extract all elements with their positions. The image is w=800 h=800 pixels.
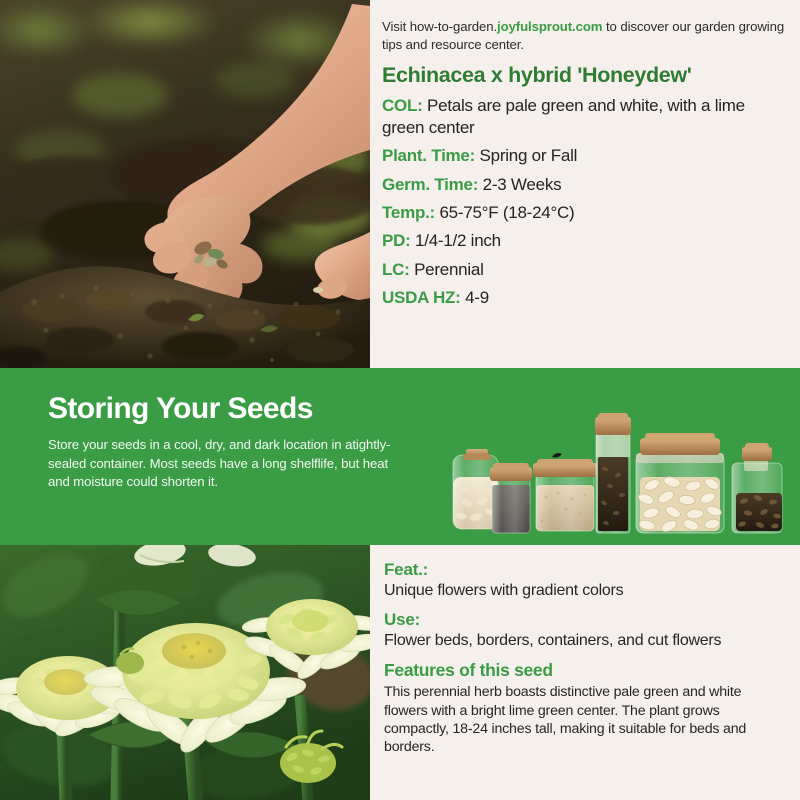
- spec-key: Temp.:: [382, 203, 435, 222]
- echinacea-flower-photo: [0, 545, 370, 800]
- spec-key: USDA HZ:: [382, 288, 461, 307]
- features-panel: Feat.: Unique flowers with gradient colo…: [370, 545, 800, 800]
- spec-value: 2-3 Weeks: [483, 175, 562, 194]
- spec-key: Plant. Time:: [382, 146, 475, 165]
- spec-key: PD:: [382, 231, 411, 250]
- features-heading: Features of this seed: [384, 660, 786, 681]
- spec-row-lc: LC: Perennial: [382, 259, 786, 280]
- spec-key: Germ. Time:: [382, 175, 478, 194]
- storing-body: Store your seeds in a cool, dry, and dar…: [48, 436, 398, 492]
- website-domain-link[interactable]: joyfulsprout.com: [497, 19, 602, 34]
- spec-value: Perennial: [414, 260, 484, 279]
- top-section: Visit how-to-garden.joyfulsprout.com to …: [0, 0, 800, 368]
- spec-key: COL:: [382, 96, 423, 115]
- use-value: Flower beds, borders, containers, and cu…: [384, 631, 786, 650]
- species-title: Echinacea x hybrid 'Honeydew': [382, 63, 786, 88]
- seed-jars-photo: [440, 385, 792, 545]
- storing-title: Storing Your Seeds: [48, 392, 398, 426]
- spec-row-pd: PD: 1/4-1/2 inch: [382, 230, 786, 251]
- spec-row-temp: Temp.: 65-75°F (18-24°C): [382, 202, 786, 223]
- spec-value: Petals are pale green and white, with a …: [382, 96, 745, 136]
- spec-list: COL: Petals are pale green and white, wi…: [382, 95, 786, 308]
- feat-value: Unique flowers with gradient colors: [384, 581, 786, 600]
- plant-info-panel: Visit how-to-garden.joyfulsprout.com to …: [370, 0, 800, 368]
- spec-value: 1/4-1/2 inch: [415, 231, 501, 250]
- spec-value: 65-75°F (18-24°C): [439, 203, 574, 222]
- spec-row-col: COL: Petals are pale green and white, wi…: [382, 95, 786, 138]
- visit-prefix-text: Visit how-to-garden.: [382, 19, 497, 34]
- spec-value: Spring or Fall: [480, 146, 578, 165]
- use-label: Use:: [384, 610, 786, 630]
- storing-seeds-section: Storing Your Seeds Store your seeds in a…: [0, 368, 800, 545]
- spec-value: 4-9: [465, 288, 489, 307]
- spec-row-plant-time: Plant. Time: Spring or Fall: [382, 145, 786, 166]
- spec-row-usda-hz: USDA HZ: 4-9: [382, 287, 786, 308]
- feat-label: Feat.:: [384, 560, 786, 580]
- seed-packet-card: Visit how-to-garden.joyfulsprout.com to …: [0, 0, 800, 800]
- spec-key: LC:: [382, 260, 410, 279]
- spec-row-germ-time: Germ. Time: 2-3 Weeks: [382, 174, 786, 195]
- bottom-section: Feat.: Unique flowers with gradient colo…: [0, 545, 800, 800]
- visit-website-line: Visit how-to-garden.joyfulsprout.com to …: [382, 18, 786, 53]
- storing-text-block: Storing Your Seeds Store your seeds in a…: [48, 392, 398, 492]
- soil-planting-photo: [0, 0, 370, 368]
- features-body: This perennial herb boasts distinctive p…: [384, 683, 786, 756]
